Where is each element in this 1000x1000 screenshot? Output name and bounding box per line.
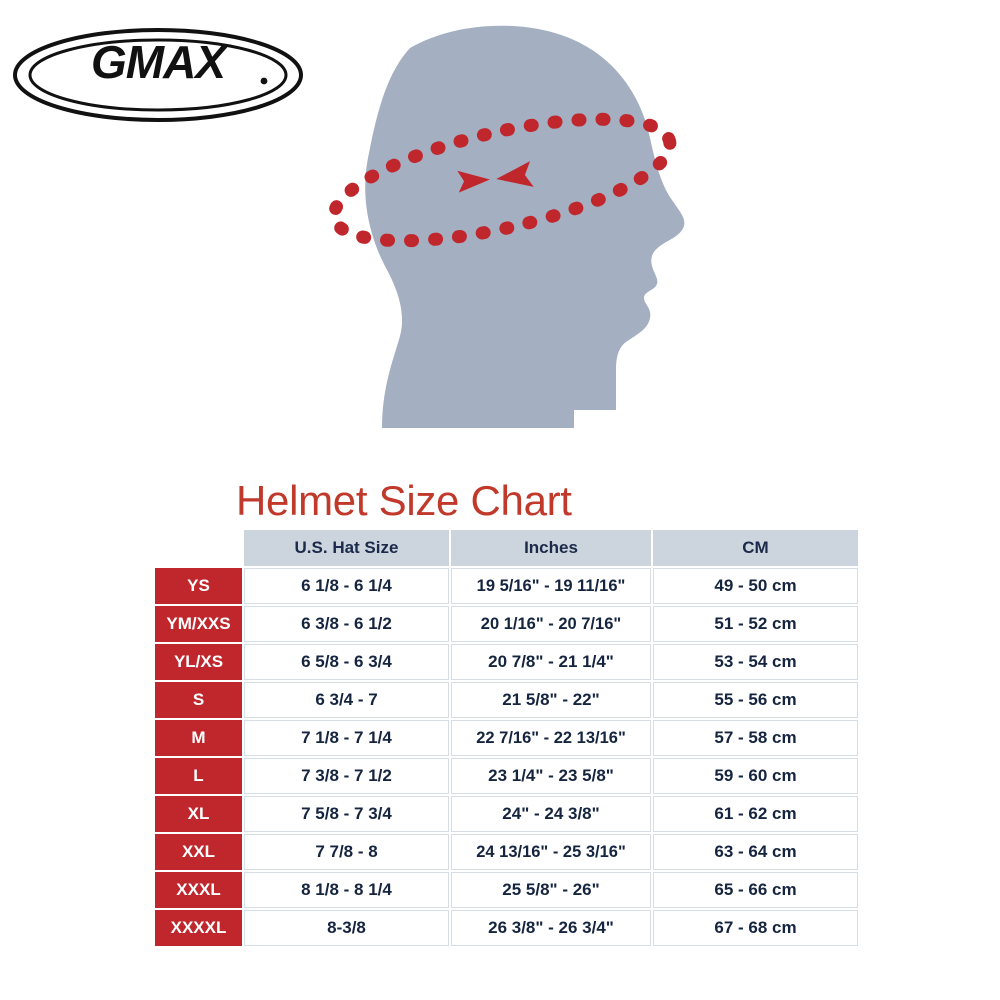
helmet-size-table: U.S. Hat Size Inches CM YS6 1/8 - 6 1/41…	[153, 528, 860, 948]
cm-cell: 61 - 62 cm	[653, 796, 858, 832]
size-label-cell: XXL	[155, 834, 242, 870]
head-measurement-diagram	[282, 18, 722, 450]
inches-cell: 24 13/16" - 25 3/16"	[451, 834, 651, 870]
hat-size-cell: 7 1/8 - 7 1/4	[244, 720, 449, 756]
gmax-logo-text: GMAX	[91, 36, 228, 88]
cm-cell: 63 - 64 cm	[653, 834, 858, 870]
table-row: XXXL8 1/8 - 8 1/425 5/8" - 26"65 - 66 cm	[155, 872, 858, 908]
cm-cell: 51 - 52 cm	[653, 606, 858, 642]
hat-size-cell: 8-3/8	[244, 910, 449, 946]
size-label-cell: S	[155, 682, 242, 718]
inches-cell: 19 5/16" - 19 11/16"	[451, 568, 651, 604]
page-title: Helmet Size Chart	[236, 478, 856, 524]
column-header-hat-size: U.S. Hat Size	[244, 530, 449, 566]
cm-cell: 53 - 54 cm	[653, 644, 858, 680]
table-row: XL7 5/8 - 7 3/424" - 24 3/8"61 - 62 cm	[155, 796, 858, 832]
inches-cell: 24" - 24 3/8"	[451, 796, 651, 832]
size-label-cell: XXXL	[155, 872, 242, 908]
table-row: YS6 1/8 - 6 1/419 5/16" - 19 11/16"49 - …	[155, 568, 858, 604]
hat-size-cell: 7 5/8 - 7 3/4	[244, 796, 449, 832]
column-header-cm: CM	[653, 530, 858, 566]
table-row: M7 1/8 - 7 1/422 7/16" - 22 13/16"57 - 5…	[155, 720, 858, 756]
size-label-cell: M	[155, 720, 242, 756]
inches-cell: 22 7/16" - 22 13/16"	[451, 720, 651, 756]
header-corner-blank	[155, 530, 242, 566]
size-label-cell: YL/XS	[155, 644, 242, 680]
table-row: L7 3/8 - 7 1/223 1/4" - 23 5/8"59 - 60 c…	[155, 758, 858, 794]
size-label-cell: YS	[155, 568, 242, 604]
inches-cell: 25 5/8" - 26"	[451, 872, 651, 908]
cm-cell: 49 - 50 cm	[653, 568, 858, 604]
table-row: YL/XS6 5/8 - 6 3/420 7/8" - 21 1/4"53 - …	[155, 644, 858, 680]
hat-size-cell: 6 1/8 - 6 1/4	[244, 568, 449, 604]
inches-cell: 23 1/4" - 23 5/8"	[451, 758, 651, 794]
hat-size-cell: 6 5/8 - 6 3/4	[244, 644, 449, 680]
hat-size-cell: 6 3/4 - 7	[244, 682, 449, 718]
size-label-cell: XXXXL	[155, 910, 242, 946]
table-row: XXL7 7/8 - 824 13/16" - 25 3/16"63 - 64 …	[155, 834, 858, 870]
table-row: S6 3/4 - 721 5/8" - 22"55 - 56 cm	[155, 682, 858, 718]
cm-cell: 55 - 56 cm	[653, 682, 858, 718]
inches-cell: 20 1/16" - 20 7/16"	[451, 606, 651, 642]
hat-size-cell: 7 3/8 - 7 1/2	[244, 758, 449, 794]
column-header-inches: Inches	[451, 530, 651, 566]
size-label-cell: YM/XXS	[155, 606, 242, 642]
gmax-logo: GMAX	[12, 26, 304, 124]
hat-size-cell: 8 1/8 - 8 1/4	[244, 872, 449, 908]
table-header-row: U.S. Hat Size Inches CM	[155, 530, 858, 566]
size-label-cell: L	[155, 758, 242, 794]
size-label-cell: XL	[155, 796, 242, 832]
inches-cell: 20 7/8" - 21 1/4"	[451, 644, 651, 680]
cm-cell: 67 - 68 cm	[653, 910, 858, 946]
hat-size-cell: 7 7/8 - 8	[244, 834, 449, 870]
cm-cell: 65 - 66 cm	[653, 872, 858, 908]
cm-cell: 59 - 60 cm	[653, 758, 858, 794]
table-row: YM/XXS6 3/8 - 6 1/220 1/16" - 20 7/16"51…	[155, 606, 858, 642]
cm-cell: 57 - 58 cm	[653, 720, 858, 756]
table-row: XXXXL8-3/826 3/8" - 26 3/4"67 - 68 cm	[155, 910, 858, 946]
hat-size-cell: 6 3/8 - 6 1/2	[244, 606, 449, 642]
table-body: YS6 1/8 - 6 1/419 5/16" - 19 11/16"49 - …	[155, 568, 858, 946]
inches-cell: 26 3/8" - 26 3/4"	[451, 910, 651, 946]
inches-cell: 21 5/8" - 22"	[451, 682, 651, 718]
helmet-size-table-container: U.S. Hat Size Inches CM YS6 1/8 - 6 1/41…	[153, 528, 850, 948]
